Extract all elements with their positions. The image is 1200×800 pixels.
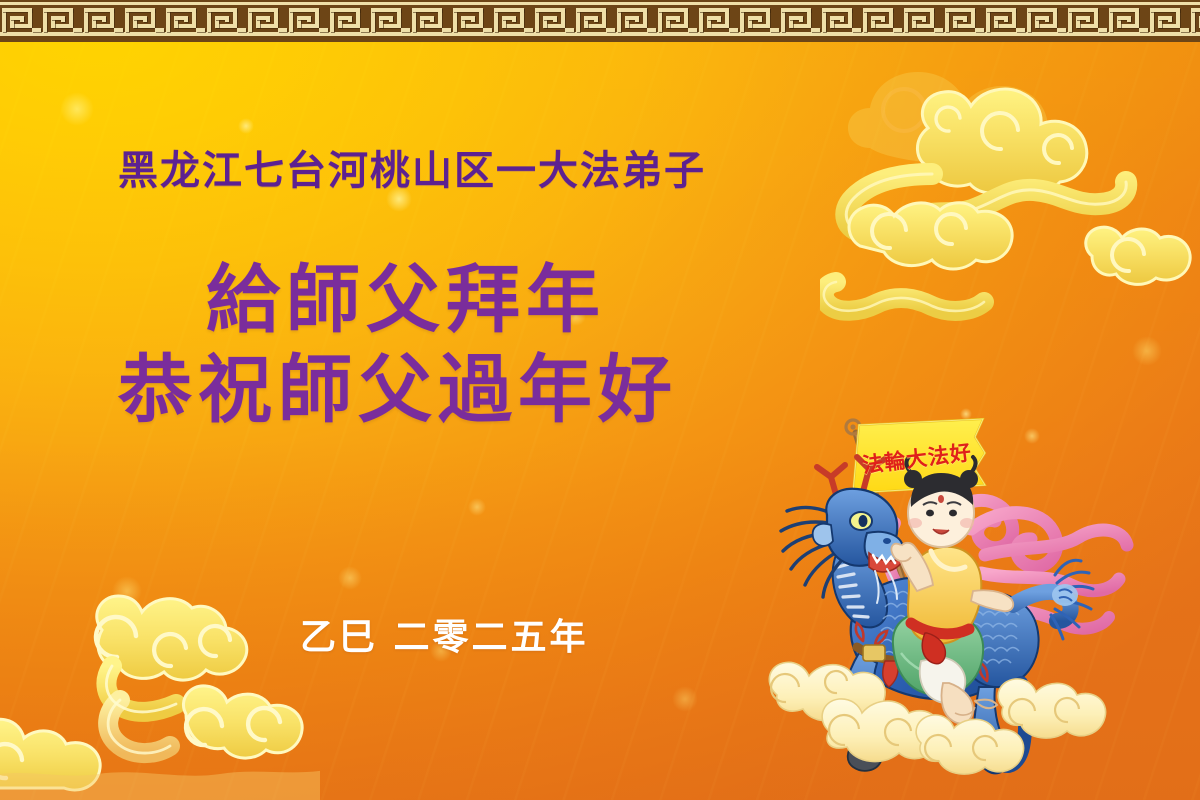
meander-unit (533, 0, 574, 42)
meander-unit (123, 0, 164, 42)
card-header-text: 黑龙江七台河桃山区一大法弟子 (118, 138, 706, 196)
meander-unit (820, 0, 861, 42)
greeting-line-2: 恭祝師父過年好 (118, 352, 678, 430)
auspicious-cloud-top-right (820, 70, 1200, 370)
greeting-block: 給師父拜年 恭祝師父過年好 (118, 262, 678, 429)
meander-unit (1066, 0, 1107, 42)
meander-unit (41, 0, 82, 42)
meander-unit (492, 0, 533, 42)
meander-unit (0, 0, 41, 42)
meander-unit (1189, 0, 1200, 42)
meander-unit (1107, 0, 1148, 42)
meander-unit (779, 0, 820, 42)
auspicious-cloud-bottom-left (0, 580, 320, 800)
new-year-greeting-card: 黑龙江七台河桃山区一大法弟子 給師父拜年 恭祝師父過年好 乙巳 二零二五年 (0, 0, 1200, 800)
card-date-text: 乙巳 二零二五年 (300, 608, 589, 660)
meander-unit (656, 0, 697, 42)
meander-unit (943, 0, 984, 42)
greeting-line-1: 給師父拜年 (206, 262, 678, 340)
top-decorative-border (0, 0, 1200, 42)
meander-unit (82, 0, 123, 42)
meander-unit (574, 0, 615, 42)
meander-unit (410, 0, 451, 42)
meander-unit (164, 0, 205, 42)
meander-unit (615, 0, 656, 42)
meander-unit (246, 0, 287, 42)
meander-unit (451, 0, 492, 42)
meander-unit (861, 0, 902, 42)
meander-unit (697, 0, 738, 42)
meander-unit (369, 0, 410, 42)
meander-unit (1148, 0, 1189, 42)
meander-unit (738, 0, 779, 42)
meander-pattern-row (0, 0, 1200, 42)
meander-unit (1025, 0, 1066, 42)
meander-unit (205, 0, 246, 42)
meander-unit (984, 0, 1025, 42)
meander-unit (328, 0, 369, 42)
meander-unit (287, 0, 328, 42)
meander-unit (902, 0, 943, 42)
